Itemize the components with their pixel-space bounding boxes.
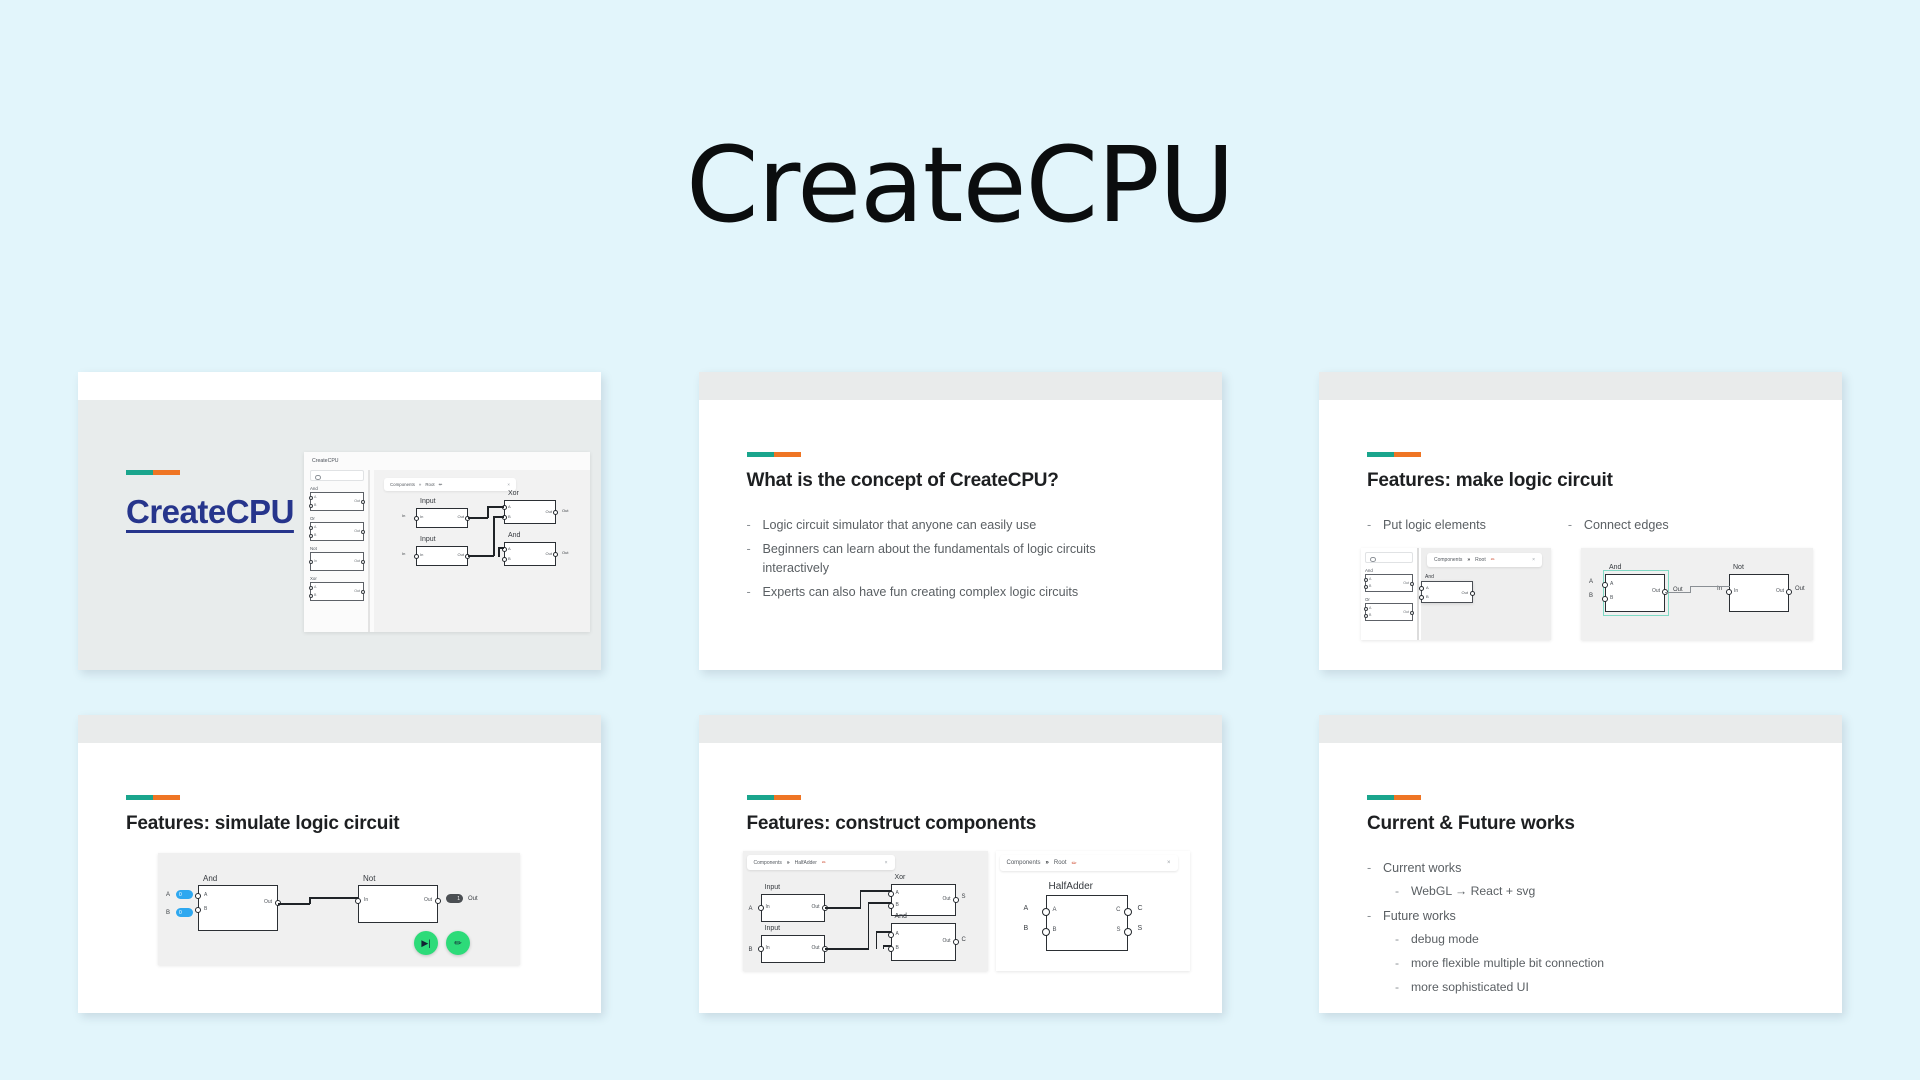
accent-rule xyxy=(1367,795,1421,800)
external-input-label: In xyxy=(402,513,405,518)
slide-header: Features: simulate logic circuit xyxy=(126,795,399,835)
app-screenshot-mock: CreateCPU And A B xyxy=(304,452,590,632)
wire xyxy=(487,506,504,508)
canvas-block-and[interactable]: And A B Out xyxy=(504,542,556,566)
play-step-icon: ▶| xyxy=(421,938,430,949)
pencil-icon[interactable]: ✏ xyxy=(1072,860,1077,867)
pin-out-icon xyxy=(361,590,365,594)
pin-out-icon xyxy=(361,500,365,504)
bullet-text: debug mode xyxy=(1411,931,1479,949)
bullet-list: - Current works - WebGL → React + svg - … xyxy=(1367,859,1604,1002)
slide-card-concept[interactable]: What is the concept of CreateCPU? - Logi… xyxy=(699,372,1222,670)
pin-b-icon xyxy=(1364,585,1368,589)
pin-label-out: Out xyxy=(546,551,552,556)
pin-label-out: Out xyxy=(424,897,432,903)
palette-item-or[interactable]: Or A B Out xyxy=(310,516,364,541)
pin-out-icon[interactable] xyxy=(553,510,558,515)
pin-label-out: Out xyxy=(1403,610,1409,614)
gate-shape: A B Out xyxy=(310,492,364,511)
bullet-dash: - xyxy=(747,516,763,534)
slide-body: What is the concept of CreateCPU? - Logi… xyxy=(699,400,1222,670)
bullet-text: Current works xyxy=(1383,859,1461,877)
palette-item-xor[interactable]: Xor A B Out xyxy=(310,576,364,601)
breadcrumb-current[interactable]: Root xyxy=(1475,557,1486,563)
pin-label-a: A xyxy=(1053,907,1057,913)
pin-label-b: B xyxy=(314,533,316,537)
block-label: Not xyxy=(363,874,375,883)
pin-in-icon[interactable] xyxy=(414,554,419,559)
bullet-text: Logic circuit simulator that anyone can … xyxy=(763,516,1037,534)
page-title: CreateCPU xyxy=(0,128,1920,242)
slide-body: Features: construct components Component… xyxy=(699,743,1222,1013)
bullet-column-right: - Connect edges xyxy=(1568,516,1669,540)
pin-s-icon[interactable] xyxy=(1124,928,1132,936)
wire xyxy=(868,902,870,949)
wire xyxy=(883,945,891,947)
breadcrumb-root[interactable]: Components xyxy=(1007,860,1041,866)
bullet-column-left: - Put logic elements xyxy=(1367,516,1486,540)
pin-a-icon xyxy=(309,586,313,590)
bullet-dash: - xyxy=(1395,955,1411,973)
list-item: - debug mode xyxy=(1395,931,1604,949)
gate-shape: A B Out xyxy=(310,522,364,541)
pin-b-icon[interactable] xyxy=(888,946,894,952)
output-value: 1 xyxy=(457,896,460,902)
list-item: - Put logic elements xyxy=(1367,516,1486,534)
bullet-text: more sophisticated UI xyxy=(1411,979,1529,997)
slide-card-make-logic-circuit[interactable]: Features: make logic circuit - Put logic… xyxy=(1319,372,1842,670)
pin-label-a: A xyxy=(1610,581,1613,587)
pin-label-a: A xyxy=(508,504,511,509)
gate-shape: A B Out xyxy=(1365,574,1413,592)
pin-a-icon[interactable] xyxy=(1042,908,1050,916)
pin-out-icon[interactable] xyxy=(953,939,959,945)
bullet-text: Beginners can learn about the fundamenta… xyxy=(763,540,1163,577)
circuit-block-input-1[interactable]: Input In Out xyxy=(761,894,825,922)
bullet-dash: - xyxy=(1367,907,1383,925)
external-input-label: A xyxy=(1589,579,1593,585)
wire xyxy=(278,903,310,905)
pin-b-icon[interactable] xyxy=(1602,596,1608,602)
bullet-dash: - xyxy=(1367,516,1383,534)
canvas-block-input-2[interactable]: Input In Out xyxy=(416,546,468,566)
pin-b-icon[interactable] xyxy=(888,903,894,909)
pin-label-in: In xyxy=(364,897,368,903)
pin-a-icon xyxy=(1364,607,1368,611)
input-label-b: B xyxy=(166,910,170,916)
toggle-value: 0 xyxy=(179,892,182,898)
list-item: - more sophisticated UI xyxy=(1395,979,1604,997)
pin-label-s: S xyxy=(1116,927,1120,933)
mock-sidebar: And A B Out xyxy=(308,470,370,632)
list-item: - Experts can also have fun creating com… xyxy=(747,583,1163,601)
gate-shape: A B Out xyxy=(310,582,364,601)
bullet-dash: - xyxy=(1367,859,1383,877)
slide-top-band xyxy=(699,715,1222,743)
wire xyxy=(876,931,891,933)
pin-label-out: Out xyxy=(546,509,552,514)
external-output-label: C xyxy=(962,937,966,943)
bullet-dash: - xyxy=(1395,979,1411,997)
block-label: And xyxy=(203,874,217,883)
breadcrumb[interactable]: Components » Root ✏ × xyxy=(384,478,516,491)
pin-label-out: Out xyxy=(1462,590,1468,595)
block-label: HalfAdder xyxy=(1049,881,1093,892)
pin-label-b: B xyxy=(1610,595,1613,601)
pin-out-icon xyxy=(361,530,365,534)
pin-a-icon[interactable] xyxy=(1602,582,1608,588)
output-value-badge: 1 xyxy=(446,894,463,903)
pin-label-c: C xyxy=(1116,907,1120,913)
pin-out-icon[interactable] xyxy=(553,552,558,557)
wire xyxy=(876,931,878,949)
slide-deck: CreateCPU CreateCPU And xyxy=(78,372,1842,1013)
slide-header: Current & Future works xyxy=(1367,795,1575,835)
bullet-dash: - xyxy=(1568,516,1584,534)
block-label: Input xyxy=(765,884,781,891)
pin-label-b: B xyxy=(314,593,316,597)
pencil-icon[interactable]: ✏ xyxy=(822,860,826,866)
slide-card-simulate-logic-circuit[interactable]: Features: simulate logic circuit A 0 B 0… xyxy=(78,715,601,1013)
circuit-block-and[interactable]: And A B Out xyxy=(198,885,278,931)
canvas-block-xor[interactable]: Xor A B Out xyxy=(504,500,556,524)
pin-in-icon[interactable] xyxy=(758,905,764,911)
slide-top-band xyxy=(78,372,601,400)
slide-title: Features: simulate logic circuit xyxy=(126,813,399,835)
bullet-dash: - xyxy=(1395,883,1411,901)
pencil-icon[interactable]: ✏ xyxy=(1491,557,1495,563)
list-item: - Beginners can learn about the fundamen… xyxy=(747,540,1163,577)
pin-label-out: Out xyxy=(811,904,819,910)
pin-label-b: B xyxy=(1426,594,1429,599)
pin-b-icon xyxy=(309,594,313,598)
accent-rule xyxy=(1367,452,1421,457)
pin-out-icon[interactable] xyxy=(1470,591,1475,596)
wire xyxy=(468,555,494,557)
breadcrumb[interactable]: Components » HalfAdder ✏ × xyxy=(747,855,895,870)
circuit-block-not[interactable]: Not In Out xyxy=(1729,574,1789,612)
pin-label-out: Out xyxy=(942,938,950,944)
panel-halfadder-component: Components » Root ✏ × HalfAdder xyxy=(996,851,1190,971)
pin-label-a: A xyxy=(204,892,207,898)
pin-b-icon xyxy=(309,504,313,508)
slide-card-cover[interactable]: CreateCPU CreateCPU And xyxy=(78,372,601,670)
breadcrumb[interactable]: Components » Root ✏ × xyxy=(1000,855,1178,871)
panel-put-logic-elements: And A B Out xyxy=(1361,548,1551,640)
pencil-icon[interactable]: ✏ xyxy=(439,482,443,488)
chevron-right-icon: » xyxy=(1046,860,1049,866)
slide-body: CreateCPU CreateCPU And xyxy=(78,400,601,670)
pin-label-a: A xyxy=(314,585,316,589)
edit-button[interactable]: ✏ xyxy=(446,931,470,955)
block-label: Input xyxy=(420,536,436,543)
bullet-text: Experts can also have fun creating compl… xyxy=(763,583,1079,601)
input-label-a: A xyxy=(166,892,170,898)
pin-a-icon xyxy=(309,496,313,500)
pin-label-out: Out xyxy=(458,552,464,557)
palette-item-and[interactable]: And A B Out xyxy=(1365,568,1413,592)
list-item: - more flexible multiple bit connection xyxy=(1395,955,1604,973)
input-toggle-b[interactable]: 0 xyxy=(176,908,193,917)
pin-label-a: A xyxy=(1426,585,1429,590)
external-output-label: Out xyxy=(562,550,568,555)
list-item: - Current works xyxy=(1367,859,1604,877)
pin-b-icon xyxy=(1364,614,1368,618)
block-label: Input xyxy=(765,925,781,932)
palette-item-or[interactable]: Or A B Out xyxy=(1365,597,1413,621)
pin-label-a: A xyxy=(896,890,899,896)
pin-label-b: B xyxy=(1369,613,1371,617)
block-label: Xor xyxy=(508,490,519,497)
pin-b-icon[interactable] xyxy=(502,557,507,562)
slide-row-1: CreateCPU CreateCPU And xyxy=(78,372,1842,670)
breadcrumb-current[interactable]: HalfAdder xyxy=(795,860,817,866)
bullet-text: Put logic elements xyxy=(1383,516,1486,534)
pin-label-a: A xyxy=(314,525,316,529)
palette-label: Not xyxy=(310,546,364,551)
cover-text-block: CreateCPU xyxy=(126,470,294,531)
pin-out-icon[interactable] xyxy=(1786,589,1792,595)
canvas-block-input-1[interactable]: Input In Out xyxy=(416,508,468,528)
wire xyxy=(493,516,495,556)
pin-b-icon[interactable] xyxy=(195,907,201,913)
pin-in-icon[interactable] xyxy=(758,946,764,952)
list-item: - Logic circuit simulator that anyone ca… xyxy=(747,516,1163,534)
palette-label: And xyxy=(1365,568,1413,573)
pin-label-in: In xyxy=(1734,588,1738,594)
slide-body: Features: make logic circuit - Put logic… xyxy=(1319,400,1842,670)
circuit-block-and[interactable]: And A B Out xyxy=(891,923,956,961)
slide-top-band xyxy=(1319,372,1842,400)
bullet-text: more flexible multiple bit connection xyxy=(1411,955,1604,973)
pin-label-b: B xyxy=(896,945,899,951)
palette-label: Or xyxy=(1365,597,1413,602)
pin-a-icon xyxy=(1364,578,1368,582)
slide-title: Current & Future works xyxy=(1367,813,1575,835)
pin-label-b: B xyxy=(508,556,511,561)
output-label: Out xyxy=(468,896,478,902)
circuit-block-xor[interactable]: Xor A B Out xyxy=(891,884,956,916)
external-input-label: B xyxy=(1589,593,1593,599)
slide-title: Features: construct components xyxy=(747,813,1037,835)
palette-item-not[interactable]: Not In Out xyxy=(310,546,364,571)
external-input-label: B xyxy=(749,947,753,953)
accent-rule xyxy=(126,470,180,475)
close-icon[interactable]: × xyxy=(1157,860,1171,866)
accent-rule xyxy=(747,795,801,800)
wire xyxy=(493,516,504,518)
pin-out-icon xyxy=(1410,582,1414,586)
pin-label-out: Out xyxy=(811,945,819,951)
pin-b-icon[interactable] xyxy=(1419,595,1424,600)
pin-label-b: B xyxy=(896,902,899,908)
wire xyxy=(1665,592,1691,593)
pin-label-out: Out xyxy=(264,899,272,905)
pin-label-in: In xyxy=(766,945,770,951)
external-input-label: A xyxy=(1024,905,1029,912)
slide-top-band xyxy=(699,372,1222,400)
pin-label-out: Out xyxy=(354,589,360,593)
slide-row-2: Features: simulate logic circuit A 0 B 0… xyxy=(78,715,1842,1013)
pin-label-a: A xyxy=(508,546,511,551)
block-label: Xor xyxy=(895,874,906,881)
close-icon[interactable]: × xyxy=(507,482,510,487)
bullet-list: - Logic circuit simulator that anyone ca… xyxy=(747,516,1163,607)
pin-out-icon xyxy=(361,560,365,564)
mock-app-name: CreateCPU xyxy=(312,458,339,464)
chevron-right-icon: » xyxy=(1467,557,1470,563)
external-output-label: C xyxy=(1138,905,1143,912)
pin-out-icon[interactable] xyxy=(953,897,959,903)
pin-out-icon xyxy=(1410,611,1414,615)
wire xyxy=(309,897,358,899)
pin-label-in: In xyxy=(766,904,770,910)
circuit-block-input-2[interactable]: Input In Out xyxy=(761,935,825,963)
block-label: And xyxy=(1425,574,1434,580)
gate-shape: A B Out xyxy=(1365,603,1413,621)
pin-a-icon[interactable] xyxy=(1419,586,1424,591)
mock-canvas: Components » Root ✏ × Input xyxy=(374,470,590,632)
search-input[interactable] xyxy=(310,470,364,481)
circuit-block-not[interactable]: Not In Out xyxy=(358,885,438,923)
external-input-label: B xyxy=(1024,925,1029,932)
pin-label-b: B xyxy=(1053,927,1057,933)
pin-label-b: B xyxy=(204,906,207,912)
wire xyxy=(498,547,504,549)
bullet-list: - Put logic elements - Connect edges xyxy=(1367,516,1669,540)
cover-title: CreateCPU xyxy=(126,493,294,531)
pin-a-icon xyxy=(309,526,313,530)
wire xyxy=(1690,586,1730,587)
bullet-dash: - xyxy=(747,583,763,601)
chevron-right-icon: » xyxy=(419,482,421,487)
pin-label-a: A xyxy=(314,495,316,499)
wire xyxy=(468,517,488,519)
pin-b-icon xyxy=(309,534,313,538)
slide-top-band xyxy=(78,715,601,743)
wire xyxy=(860,890,891,892)
block-label: And xyxy=(508,532,520,539)
block-label: And xyxy=(895,913,907,920)
toggle-value: 0 xyxy=(179,910,182,916)
external-output-label: Out xyxy=(562,508,568,513)
pin-a-icon[interactable] xyxy=(195,893,201,899)
pin-label-a: A xyxy=(1369,606,1371,610)
search-input[interactable] xyxy=(1365,552,1413,563)
bullet-text: Connect edges xyxy=(1584,516,1669,534)
slide-card-construct-components[interactable]: Features: construct components Component… xyxy=(699,715,1222,1013)
pin-c-icon[interactable] xyxy=(1124,908,1132,916)
input-toggle-a[interactable]: 0 xyxy=(176,890,193,899)
breadcrumb-root[interactable]: Components xyxy=(1434,557,1462,563)
slide-title: Features: make logic circuit xyxy=(1367,470,1613,492)
external-output-label: S xyxy=(962,894,966,900)
pin-b-icon[interactable] xyxy=(1042,928,1050,936)
pin-label-out: Out xyxy=(354,529,360,533)
pin-label-a: A xyxy=(1369,577,1371,581)
dragged-block-and[interactable]: And A B Out xyxy=(1421,581,1473,603)
bullet-dash: - xyxy=(747,540,763,577)
wire xyxy=(868,902,891,904)
bullet-dash: - xyxy=(1395,931,1411,949)
pin-label-in: In xyxy=(314,559,317,563)
pin-label-out: Out xyxy=(354,559,360,563)
pin-label-out: Out xyxy=(1403,581,1409,585)
chevron-right-icon: » xyxy=(787,860,790,866)
slide-title: What is the concept of CreateCPU? xyxy=(747,470,1059,492)
pin-a-icon[interactable] xyxy=(888,932,894,938)
list-item: - Future works xyxy=(1367,907,1604,925)
block-label: And xyxy=(1609,564,1621,571)
pin-label-in: In xyxy=(420,514,423,519)
palette-label: And xyxy=(310,486,364,491)
pin-out-icon[interactable] xyxy=(435,898,441,904)
component-block-halfadder[interactable]: HalfAdder A B C S xyxy=(1046,895,1128,951)
panel-sidebar: And A B Out xyxy=(1361,548,1419,640)
pin-label-out: Out xyxy=(942,896,950,902)
external-input-label: In xyxy=(402,551,405,556)
close-icon[interactable]: × xyxy=(1522,557,1535,563)
breadcrumb-root[interactable]: Components xyxy=(754,860,782,866)
pin-label-b: B xyxy=(314,503,316,507)
slide-header: Features: construct components xyxy=(747,795,1037,835)
accent-rule xyxy=(126,795,180,800)
slide-body: Features: simulate logic circuit A 0 B 0… xyxy=(78,743,601,1013)
wire xyxy=(825,948,869,950)
breadcrumb-root[interactable]: Components xyxy=(390,482,415,487)
bullet-text: WebGL → React + svg xyxy=(1411,883,1535,901)
step-button[interactable]: ▶| xyxy=(414,931,438,955)
external-input-label: A xyxy=(749,906,753,912)
simulation-panel: A 0 B 0 And A xyxy=(158,853,520,965)
pin-label-out: Out xyxy=(354,499,360,503)
pin-label-out: Out xyxy=(458,514,464,519)
list-item: - WebGL → React + svg xyxy=(1395,883,1604,901)
pin-a-icon[interactable] xyxy=(888,891,894,897)
bullet-text: Future works xyxy=(1383,907,1456,925)
pin-label-out: Out xyxy=(1776,588,1784,594)
breadcrumb-current[interactable]: Root xyxy=(1054,860,1067,866)
pin-label-a: A xyxy=(896,931,899,937)
pin-label-out: Out xyxy=(1652,588,1660,594)
palette-label: Or xyxy=(310,516,364,521)
breadcrumb[interactable]: Components » Root ✏ × xyxy=(1427,553,1542,567)
wire xyxy=(860,890,862,908)
circuit-block-and[interactable]: And A B Out xyxy=(1605,574,1665,612)
panel-halfadder-internals: Components » HalfAdder ✏ × A Input In xyxy=(743,851,988,971)
panel-connect-edges: And A B Out A B Out Not xyxy=(1581,548,1813,640)
presentation-overview-page: CreateCPU CreateCPU CreateCPU xyxy=(0,0,1920,1080)
breadcrumb-current[interactable]: Root xyxy=(425,482,434,487)
external-output-label: Out xyxy=(1795,586,1805,592)
accent-rule xyxy=(747,452,801,457)
pin-label-b: B xyxy=(508,514,511,519)
wire xyxy=(825,907,861,909)
external-output-label: S xyxy=(1138,925,1143,932)
slide-card-current-future-works[interactable]: Current & Future works - Current works -… xyxy=(1319,715,1842,1013)
pin-in-icon[interactable] xyxy=(355,898,361,904)
block-label: Not xyxy=(1733,564,1744,571)
pin-label-b: B xyxy=(1369,584,1371,588)
gate-shape: In Out xyxy=(310,552,364,571)
slide-top-band xyxy=(1319,715,1842,743)
pin-in-icon[interactable] xyxy=(414,516,419,521)
close-icon[interactable]: × xyxy=(875,860,888,866)
list-item: - Connect edges xyxy=(1568,516,1669,534)
block-label: Input xyxy=(420,498,436,505)
palette-item-and[interactable]: And A B Out xyxy=(310,486,364,511)
pin-in-icon[interactable] xyxy=(1726,589,1732,595)
